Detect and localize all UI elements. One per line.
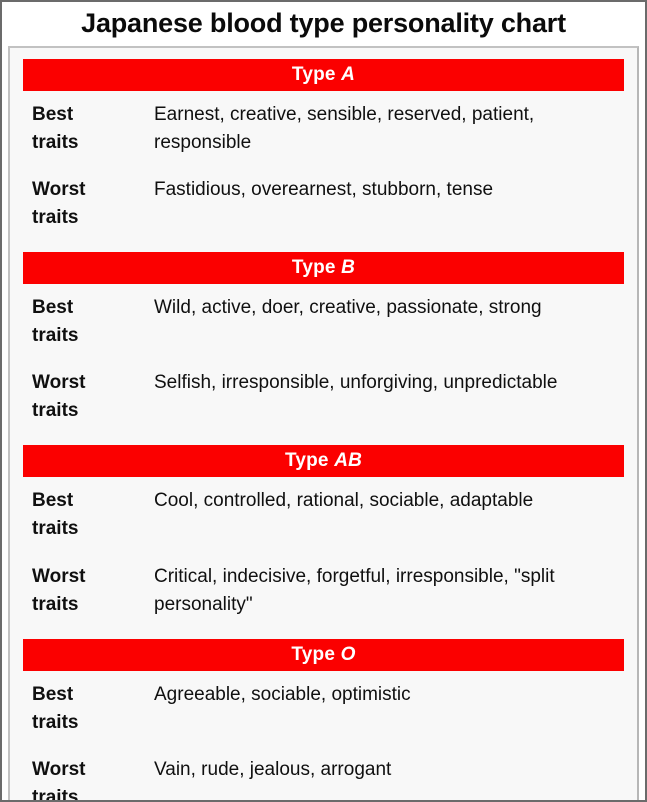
trait-value-b-best: Wild, active, doer, creative, passionate… — [154, 284, 624, 359]
table-row-ab-best: Best traits Cool, controlled, rational, … — [23, 477, 624, 552]
blood-type-chart-card: Type A Best traits Earnest, creative, se… — [8, 46, 639, 802]
trait-label-b-best-line2: traits — [32, 322, 154, 350]
type-header-a: Type A — [23, 59, 624, 91]
table-row-o-best: Best traits Agreeable, sociable, optimis… — [23, 671, 624, 746]
trait-label-a-worst-line1: Worst — [32, 176, 154, 204]
type-header-b-letter: B — [341, 257, 355, 278]
trait-label-o-best-line2: traits — [32, 709, 154, 737]
traits-table-a: Best traits Earnest, creative, sensible,… — [23, 91, 624, 252]
type-header-o-letter: O — [341, 644, 356, 665]
trait-value-ab-worst: Critical, indecisive, forgetful, irrespo… — [154, 553, 624, 628]
trait-label-ab-best: Best traits — [23, 477, 154, 552]
type-header-a-prefix: Type — [292, 64, 336, 85]
trait-label-a-best: Best traits — [23, 91, 154, 166]
traits-table-o: Best traits Agreeable, sociable, optimis… — [23, 671, 624, 802]
row-spacer-b — [23, 434, 624, 445]
table-row-a-worst: Worst traits Fastidious, overearnest, st… — [23, 166, 624, 241]
trait-value-b-worst: Selfish, irresponsible, unforgiving, unp… — [154, 359, 624, 434]
table-row-b-worst: Worst traits Selfish, irresponsible, unf… — [23, 359, 624, 434]
table-row-ab-worst: Worst traits Critical, indecisive, forge… — [23, 553, 624, 628]
row-spacer-b-cell — [23, 434, 624, 445]
trait-label-a-worst: Worst traits — [23, 166, 154, 241]
row-spacer-a — [23, 241, 624, 252]
traits-table-b: Best traits Wild, active, doer, creative… — [23, 284, 624, 445]
trait-label-b-worst-line2: traits — [32, 397, 154, 425]
trait-label-o-worst-line1: Worst — [32, 756, 154, 784]
row-spacer-ab — [23, 628, 624, 639]
trait-label-b-worst-line1: Worst — [32, 369, 154, 397]
trait-label-ab-best-line2: traits — [32, 515, 154, 543]
row-spacer-ab-cell — [23, 628, 624, 639]
type-header-b: Type B — [23, 252, 624, 284]
trait-label-a-best-line1: Best — [32, 101, 154, 129]
traits-table-ab: Best traits Cool, controlled, rational, … — [23, 477, 624, 638]
row-spacer-a-cell — [23, 241, 624, 252]
type-header-o-prefix: Type — [291, 644, 335, 665]
trait-label-o-worst: Worst traits — [23, 746, 154, 802]
type-header-b-prefix: Type — [292, 257, 336, 278]
trait-label-b-worst: Worst traits — [23, 359, 154, 434]
trait-label-b-best: Best traits — [23, 284, 154, 359]
trait-value-a-best: Earnest, creative, sensible, reserved, p… — [154, 91, 624, 166]
table-row-b-best: Best traits Wild, active, doer, creative… — [23, 284, 624, 359]
trait-label-ab-best-line1: Best — [32, 487, 154, 515]
trait-value-a-worst: Fastidious, overearnest, stubborn, tense — [154, 166, 624, 241]
trait-label-o-worst-line2: traits — [32, 784, 154, 802]
trait-label-ab-worst-line1: Worst — [32, 563, 154, 591]
type-header-ab: Type AB — [23, 445, 624, 477]
page-frame: Japanese blood type personality chart Ty… — [0, 0, 647, 802]
trait-label-b-best-line1: Best — [32, 294, 154, 322]
trait-value-ab-best: Cool, controlled, rational, sociable, ad… — [154, 477, 624, 552]
type-header-ab-letter: AB — [334, 450, 362, 471]
table-row-a-best: Best traits Earnest, creative, sensible,… — [23, 91, 624, 166]
type-header-ab-prefix: Type — [285, 450, 329, 471]
trait-label-o-best-line1: Best — [32, 681, 154, 709]
page-title: Japanese blood type personality chart — [2, 2, 645, 43]
trait-label-ab-worst: Worst traits — [23, 553, 154, 628]
trait-value-o-best: Agreeable, sociable, optimistic — [154, 671, 624, 746]
type-header-a-letter: A — [341, 64, 355, 85]
table-row-o-worst: Worst traits Vain, rude, jealous, arroga… — [23, 746, 624, 802]
trait-label-a-best-line2: traits — [32, 129, 154, 157]
type-header-o: Type O — [23, 639, 624, 671]
trait-value-o-worst: Vain, rude, jealous, arrogant — [154, 746, 624, 802]
trait-label-o-best: Best traits — [23, 671, 154, 746]
trait-label-a-worst-line2: traits — [32, 204, 154, 232]
trait-label-ab-worst-line2: traits — [32, 591, 154, 619]
